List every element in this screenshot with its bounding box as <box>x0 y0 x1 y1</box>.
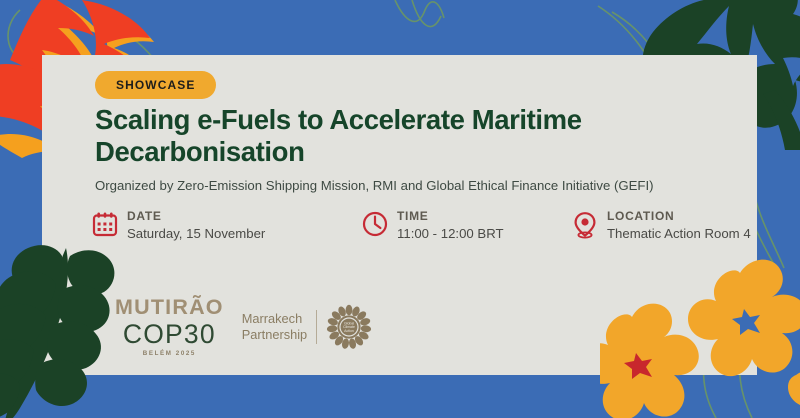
cop30-logo: MUTIRÃO COP30 BELÉM 2025 <box>115 297 224 357</box>
meta-label-date: DATE <box>127 209 265 224</box>
marrakech-line1: Marrakech <box>242 311 307 327</box>
calendar-icon <box>92 211 118 242</box>
cop30-logo-belem: BELÉM 2025 <box>143 351 196 357</box>
marrakech-partnership-logo: Marrakech Partnership <box>242 304 372 350</box>
cop30-logo-mutirao: MUTIRÃO <box>115 297 224 319</box>
meta-item-location: LOCATION Thematic Action Room 4 <box>572 209 751 244</box>
cop30-logo-cop30: COP30 <box>123 321 216 348</box>
event-meta-row: DATE Saturday, 15 November TIME 11:00 - … <box>92 209 752 259</box>
meta-item-date: DATE Saturday, 15 November <box>92 209 265 243</box>
meta-value-location: Thematic Action Room 4 <box>607 224 751 243</box>
meta-value-date: Saturday, 15 November <box>127 224 265 243</box>
poster-canvas: SHOWCASE Scaling e-Fuels to Accelerate M… <box>0 0 800 418</box>
meta-label-location: LOCATION <box>607 209 751 224</box>
event-organizer: Organized by Zero-Emission Shipping Miss… <box>95 177 755 194</box>
global-climate-action-emblem: Global Climate Action <box>326 304 372 350</box>
marrakech-line2: Partnership <box>242 327 307 343</box>
logo-divider <box>316 310 317 344</box>
location-pin-icon <box>572 211 598 244</box>
meta-label-time: TIME <box>397 209 504 224</box>
logo-strip: MUTIRÃO COP30 BELÉM 2025 Marrakech Partn… <box>115 297 372 357</box>
showcase-badge: SHOWCASE <box>95 71 216 99</box>
clock-icon <box>362 211 388 242</box>
event-title: Scaling e-Fuels to Accelerate Maritime D… <box>95 104 695 169</box>
event-card-content: SHOWCASE Scaling e-Fuels to Accelerate M… <box>42 55 757 375</box>
flower-edge <box>788 371 800 407</box>
meta-value-time: 11:00 - 12:00 BRT <box>397 224 504 243</box>
meta-item-time: TIME 11:00 - 12:00 BRT <box>362 209 504 243</box>
gca-line3: Action <box>344 329 354 333</box>
